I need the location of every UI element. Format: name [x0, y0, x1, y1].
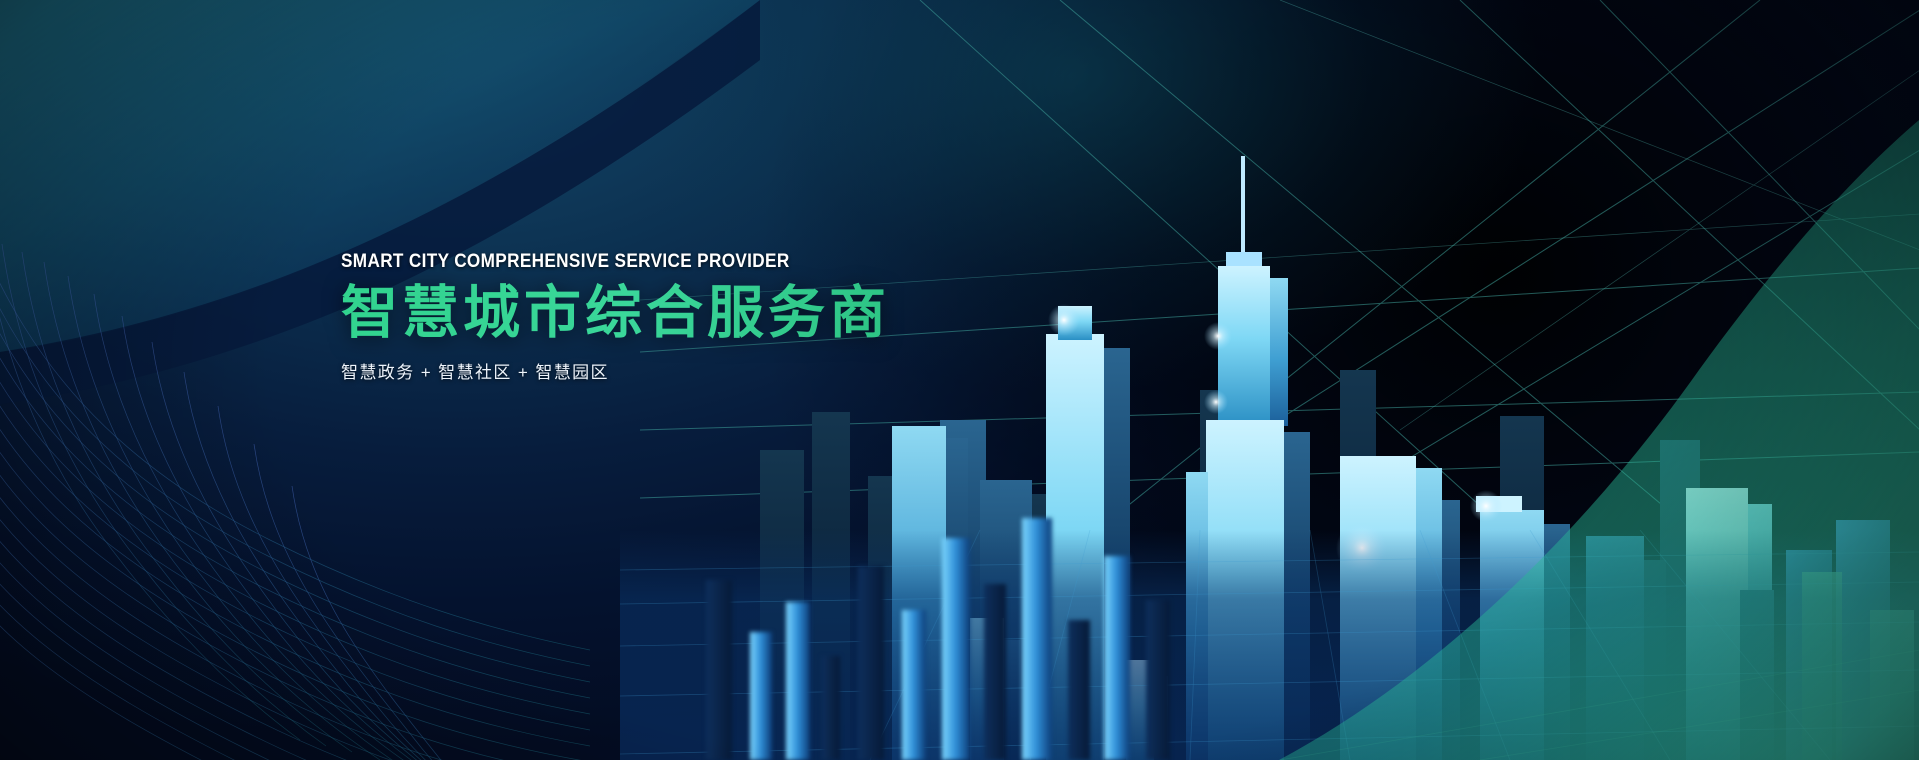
- hero-banner: SMART CITY COMPREHENSIVE SERVICE PROVIDE…: [0, 0, 1919, 760]
- hero-text-block: SMART CITY COMPREHENSIVE SERVICE PROVIDE…: [341, 250, 1101, 383]
- subtitle: 智慧政务 + 智慧社区 + 智慧园区: [341, 358, 1101, 383]
- page-title: 智慧城市综合服务商: [341, 282, 1101, 346]
- eyebrow-tagline: SMART CITY COMPREHENSIVE SERVICE PROVIDE…: [341, 250, 1010, 273]
